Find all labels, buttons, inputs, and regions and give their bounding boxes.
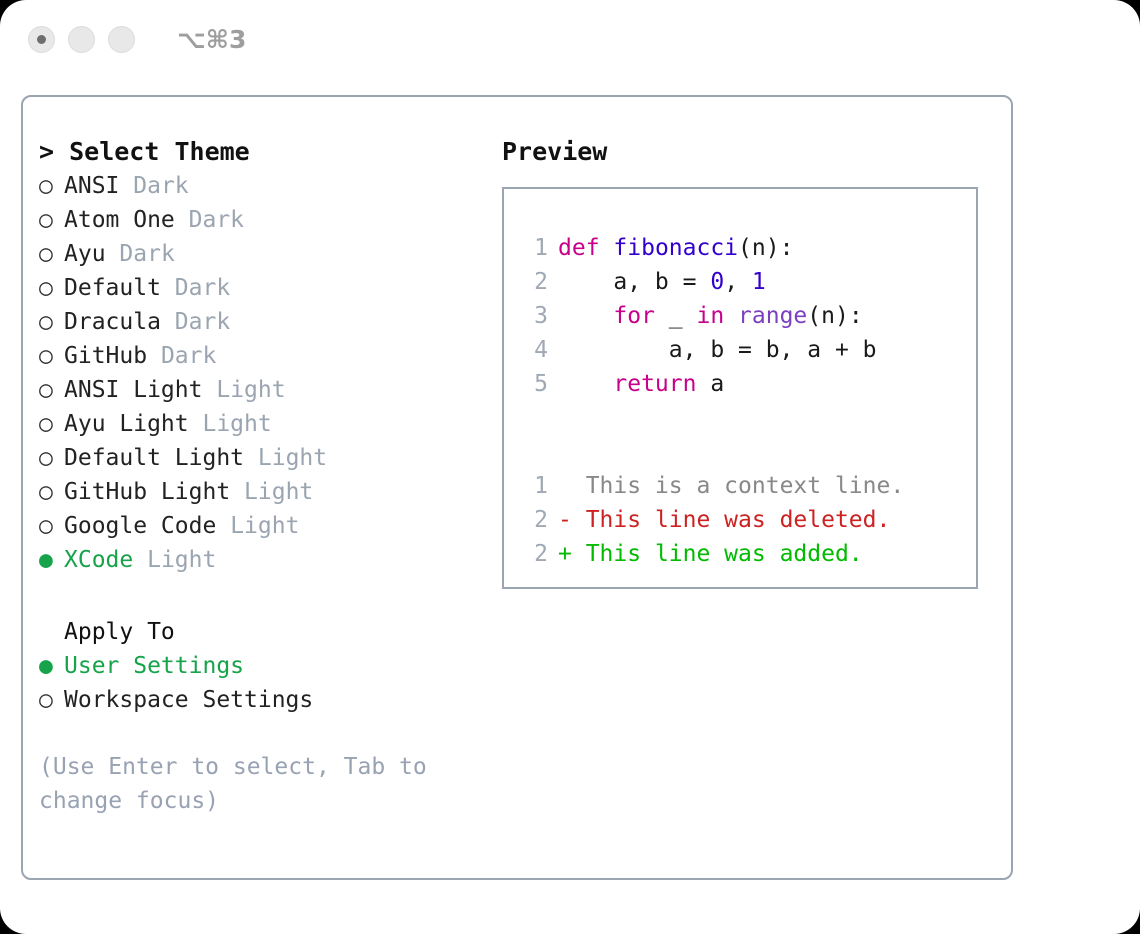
code-token: (n): — [738, 231, 793, 265]
radio-icon: ○ — [39, 509, 64, 543]
line-number: 1 — [520, 469, 548, 503]
theme-category — [147, 339, 161, 373]
line-number: 4 — [520, 333, 548, 367]
radio-icon: ○ — [39, 373, 64, 407]
apply-option-user-settings[interactable]: ●User Settings — [39, 649, 489, 683]
theme-list-item[interactable]: ○Dracula Dark — [39, 305, 489, 339]
theme-name: ANSI — [64, 169, 119, 203]
theme-category-label: Light — [244, 475, 313, 509]
theme-list-item[interactable]: ○ANSI Dark — [39, 169, 489, 203]
theme-list-item[interactable]: ○Google Code Light — [39, 509, 489, 543]
diff-prefix: - — [558, 503, 586, 537]
code-line: 3 for _ in range(n): — [520, 299, 976, 333]
theme-category — [133, 543, 147, 577]
theme-category — [230, 475, 244, 509]
theme-name: GitHub — [64, 339, 147, 373]
theme-name: GitHub Light — [64, 475, 230, 509]
code-token: _ — [655, 299, 697, 333]
theme-category — [202, 373, 216, 407]
window-dot-second[interactable] — [68, 26, 95, 53]
theme-list: ○ANSI Dark ○Atom One Dark ○Ayu Dark ○Def… — [39, 169, 489, 577]
theme-list-item[interactable]: ○GitHub Dark — [39, 339, 489, 373]
code-token: def — [558, 231, 600, 265]
theme-category — [119, 169, 133, 203]
theme-category — [244, 441, 258, 475]
code-token — [558, 299, 613, 333]
theme-name: XCode — [64, 543, 133, 577]
code-line: 5 return a — [520, 367, 976, 401]
theme-selection-pane: > Select Theme ○ANSI Dark ○Atom One Dark… — [39, 135, 489, 818]
diff-line-deleted: 2- This line was deleted. — [520, 503, 976, 537]
diff-prefix — [558, 469, 586, 503]
code-line: 1def fibonacci(n): — [520, 231, 976, 265]
apply-to-header: Apply To — [64, 615, 489, 649]
theme-category — [216, 509, 230, 543]
theme-list-item[interactable]: ○Default Light Light — [39, 441, 489, 475]
radio-icon: ○ — [39, 475, 64, 509]
theme-category-label: Dark — [175, 305, 230, 339]
theme-list-item-selected[interactable]: ●XCode Light — [39, 543, 489, 577]
diff-text: This line was deleted. — [586, 503, 891, 537]
code-spacer — [520, 401, 976, 435]
code-token: fibonacci — [613, 231, 738, 265]
theme-category-label: Light — [202, 407, 271, 441]
code-token: a — [696, 367, 724, 401]
theme-name: Ayu — [64, 237, 106, 271]
line-number: 1 — [520, 231, 548, 265]
theme-name: Google Code — [64, 509, 216, 543]
code-token — [558, 367, 613, 401]
radio-icon: ○ — [39, 407, 64, 441]
radio-icon: ○ — [39, 169, 64, 203]
theme-category-label: Light — [258, 441, 327, 475]
select-theme-header: > Select Theme — [39, 135, 489, 169]
code-token: (n): — [807, 299, 862, 333]
radio-icon: ○ — [39, 683, 64, 717]
window-dot-active[interactable] — [28, 26, 55, 53]
theme-category — [161, 271, 175, 305]
theme-name: Ayu Light — [64, 407, 189, 441]
theme-name: Default Light — [64, 441, 244, 475]
theme-list-item[interactable]: ○ANSI Light Light — [39, 373, 489, 407]
title-bar: ⌥⌘3 — [0, 0, 1140, 78]
code-line: 4 a, b = b, a + b — [520, 333, 976, 367]
radio-icon: ○ — [39, 441, 64, 475]
radio-icon: ○ — [39, 305, 64, 339]
code-token: , — [724, 265, 752, 299]
theme-name: Default — [64, 271, 161, 305]
keyboard-hint-text: (Use Enter to select, Tab to change focu… — [39, 750, 444, 818]
theme-list-item[interactable]: ○Ayu Dark — [39, 237, 489, 271]
code-line: 2 a, b = 0, 1 — [520, 265, 976, 299]
line-number: 2 — [520, 265, 548, 299]
theme-category-label: Dark — [161, 339, 216, 373]
code-token: range — [738, 299, 807, 333]
theme-category-label: Dark — [119, 237, 174, 271]
apply-option-workspace-settings[interactable]: ○Workspace Settings — [39, 683, 489, 717]
line-number: 2 — [520, 537, 548, 571]
diff-text: This is a context line. — [586, 469, 905, 503]
app-window: ⌥⌘3 > Select Theme ○ANSI Dark ○Atom One … — [0, 0, 1140, 934]
line-number: 3 — [520, 299, 548, 333]
theme-list-item[interactable]: ○Default Dark — [39, 271, 489, 305]
apply-to-list: ●User Settings ○Workspace Settings — [39, 649, 489, 717]
theme-name: ANSI Light — [64, 373, 202, 407]
code-token: 0 — [710, 265, 724, 299]
diff-line-context: 1 This is a context line. — [520, 469, 976, 503]
code-token: a, b = b, a + b — [558, 333, 877, 367]
code-token: return — [613, 367, 696, 401]
code-spacer — [520, 435, 976, 469]
theme-category — [161, 305, 175, 339]
theme-name: Dracula — [64, 305, 161, 339]
diff-text: This line was added. — [586, 537, 863, 571]
theme-category-label: Dark — [133, 169, 188, 203]
window-dot-third[interactable] — [108, 26, 135, 53]
theme-category-label: Light — [147, 543, 216, 577]
theme-category — [175, 203, 189, 237]
theme-category-label: Light — [230, 509, 299, 543]
preview-code-box: 1def fibonacci(n): 2 a, b = 0, 1 3 for _… — [502, 187, 978, 589]
theme-list-item[interactable]: ○Ayu Light Light — [39, 407, 489, 441]
radio-icon: ○ — [39, 237, 64, 271]
code-token: for — [613, 299, 655, 333]
theme-category-label: Dark — [175, 271, 230, 305]
line-number: 5 — [520, 367, 548, 401]
code-token — [600, 231, 614, 265]
theme-category — [189, 407, 203, 441]
preview-header: Preview — [502, 135, 992, 169]
diff-line-added: 2+ This line was added. — [520, 537, 976, 571]
code-token — [724, 299, 738, 333]
theme-picker-window: > Select Theme ○ANSI Dark ○Atom One Dark… — [21, 95, 1013, 880]
apply-option-label: User Settings — [64, 649, 244, 683]
theme-category — [106, 237, 120, 271]
radio-icon: ○ — [39, 203, 64, 237]
radio-icon: ○ — [39, 339, 64, 373]
radio-icon: ○ — [39, 271, 64, 305]
line-number: 2 — [520, 503, 548, 537]
diff-prefix: + — [558, 537, 586, 571]
code-token: in — [696, 299, 724, 333]
theme-list-item[interactable]: ○GitHub Light Light — [39, 475, 489, 509]
theme-list-item[interactable]: ○Atom One Dark — [39, 203, 489, 237]
radio-icon-selected: ● — [39, 543, 64, 577]
window-dot-active-center — [37, 35, 46, 44]
theme-name: Atom One — [64, 203, 175, 237]
code-token: 1 — [752, 265, 766, 299]
preview-pane: Preview 1def fibonacci(n): 2 a, b = 0, 1… — [502, 135, 992, 589]
radio-icon-selected: ● — [39, 649, 64, 683]
code-token: a, b = — [558, 265, 710, 299]
apply-option-label: Workspace Settings — [64, 683, 313, 717]
theme-category-label: Dark — [189, 203, 244, 237]
keyboard-shortcut-label: ⌥⌘3 — [177, 25, 246, 54]
theme-category-label: Light — [216, 373, 285, 407]
